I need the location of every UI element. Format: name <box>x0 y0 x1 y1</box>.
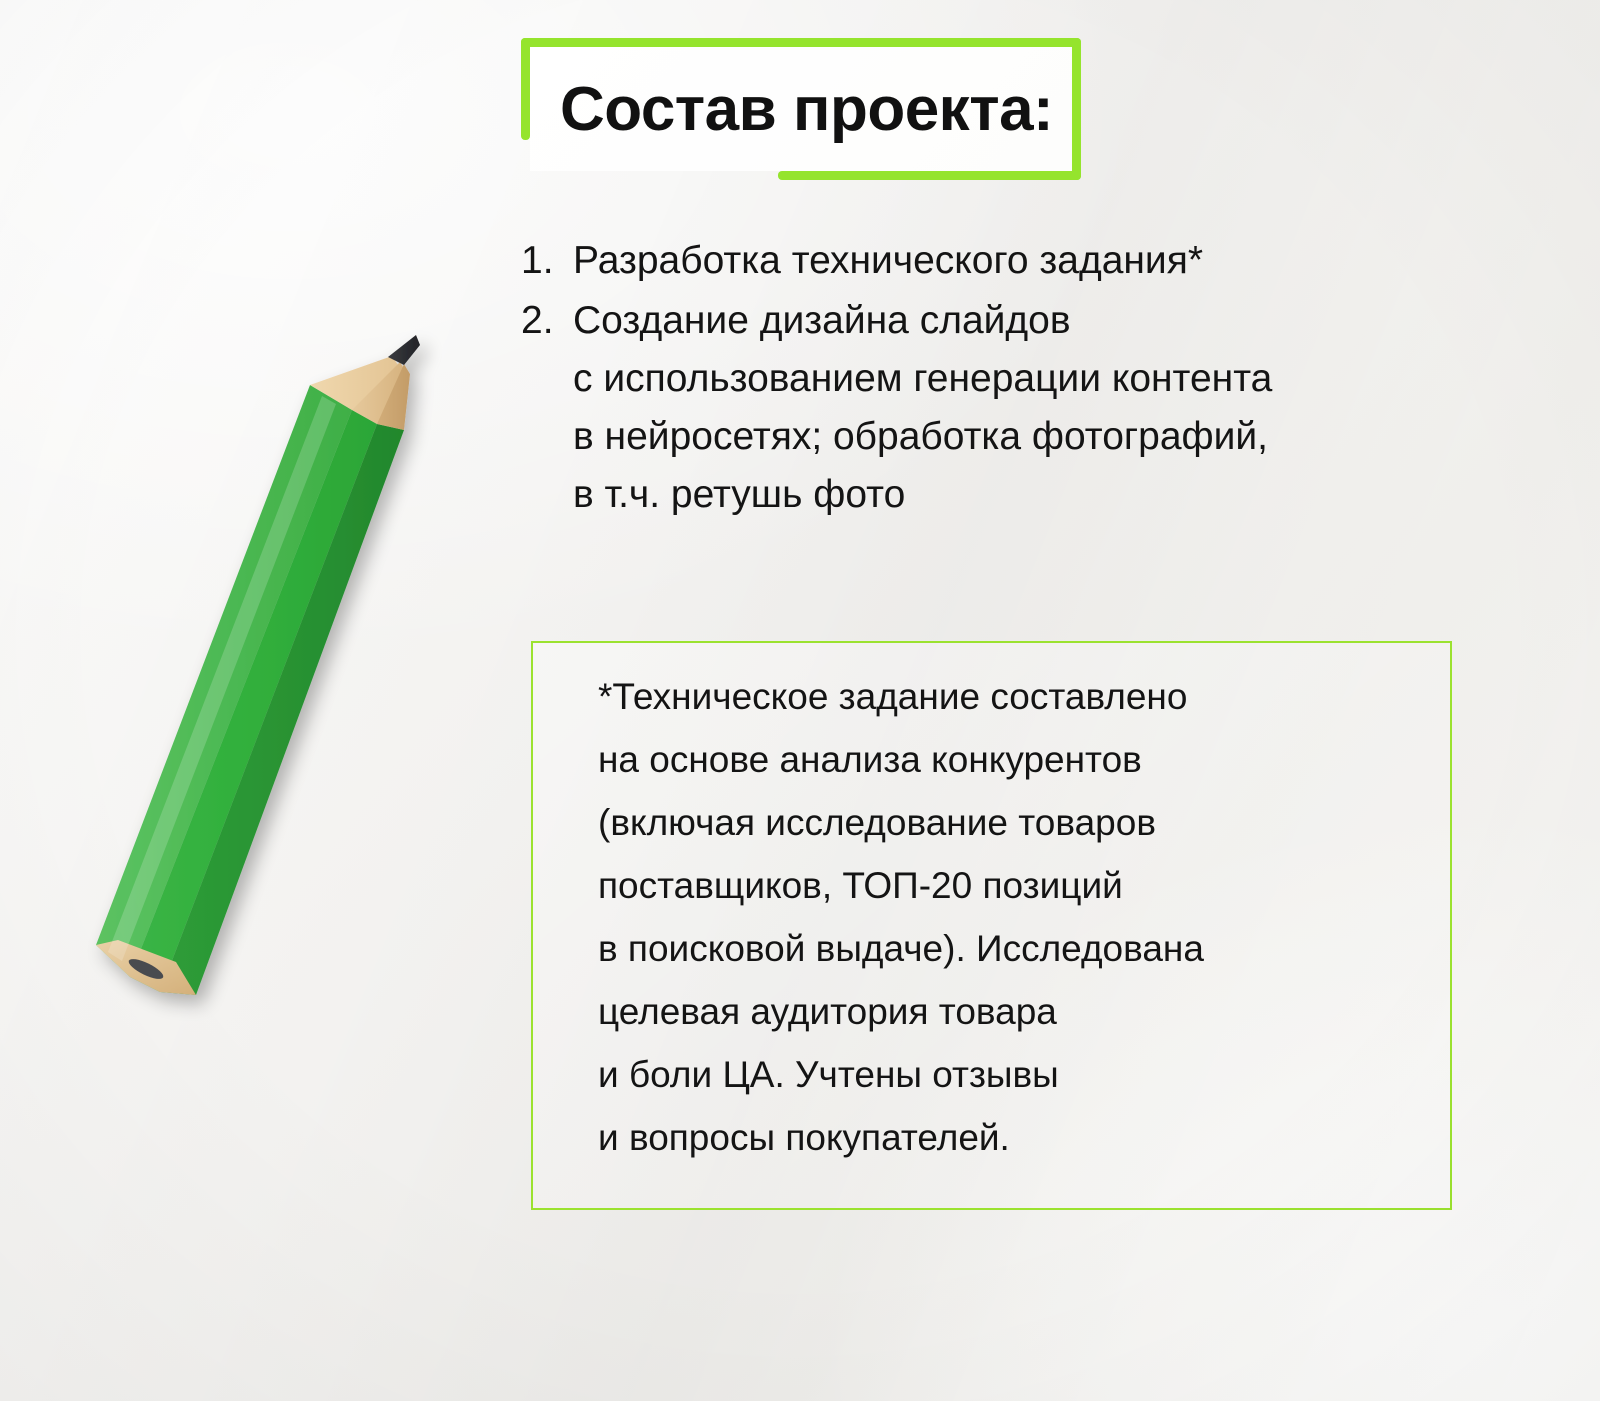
pencil-facet-mid <box>130 410 377 992</box>
pencil-facet-right <box>160 424 404 995</box>
list-item-number: 1. <box>521 232 573 290</box>
page-title: Состав проекта: <box>560 74 1053 145</box>
list-item: 1. Разработка технического задания* <box>521 232 1421 290</box>
title-frame-right-border <box>1072 38 1081 180</box>
project-steps-list: 1. Разработка технического задания* 2. С… <box>521 232 1421 526</box>
pencil-graphite-tip <box>388 335 420 365</box>
footnote-line: в поисковой выдаче). Исследована <box>598 917 1418 980</box>
pencil-body-group <box>96 335 420 995</box>
list-item-line: с использованием генерации контента <box>573 350 1421 408</box>
list-item: 2. Создание дизайна слайдов с использова… <box>521 292 1421 524</box>
title-frame-top-border <box>521 38 1081 47</box>
title-frame-left-border <box>521 38 530 140</box>
pencil-core-end <box>126 955 165 982</box>
footnote-line: и вопросы покупателей. <box>598 1106 1418 1169</box>
list-item-body: Создание дизайна слайдов с использование… <box>573 292 1421 524</box>
footnote-line: поставщиков, ТОП-20 позиций <box>598 854 1418 917</box>
pencil-highlight <box>108 396 336 961</box>
footnote-line: *Техническое задание составлено <box>598 665 1418 728</box>
footnote-line: на основе анализа конкурентов <box>598 728 1418 791</box>
list-item-line: Создание дизайна слайдов <box>573 292 1421 350</box>
pencil-butt-end <box>96 940 196 995</box>
list-item-number: 2. <box>521 292 573 350</box>
footnote-line: целевая аудитория товара <box>598 980 1418 1043</box>
footnote-line: (включая исследование товаров <box>598 791 1418 854</box>
pencil-wood-right <box>377 364 410 430</box>
pencil-wood-left <box>310 356 400 410</box>
pencil-wood-mid <box>352 362 406 424</box>
footnote-text: *Техническое задание составлено на основ… <box>598 665 1418 1169</box>
footnote-line: и боли ЦА. Учтены отзывы <box>598 1043 1418 1106</box>
pencil-facet-left <box>96 385 352 977</box>
list-item-line: Разработка технического задания* <box>573 232 1421 290</box>
slide-canvas: Состав проекта: 1. Разработка техническо… <box>0 0 1600 1401</box>
list-item-line: в нейросетях; обработка фотографий, <box>573 408 1421 466</box>
title-frame-bottom-border <box>778 171 1081 180</box>
list-item-body: Разработка технического задания* <box>573 232 1421 290</box>
footnote-box: *Техническое задание составлено на основ… <box>531 641 1452 1210</box>
list-item-line: в т.ч. ретушь фото <box>573 466 1421 524</box>
